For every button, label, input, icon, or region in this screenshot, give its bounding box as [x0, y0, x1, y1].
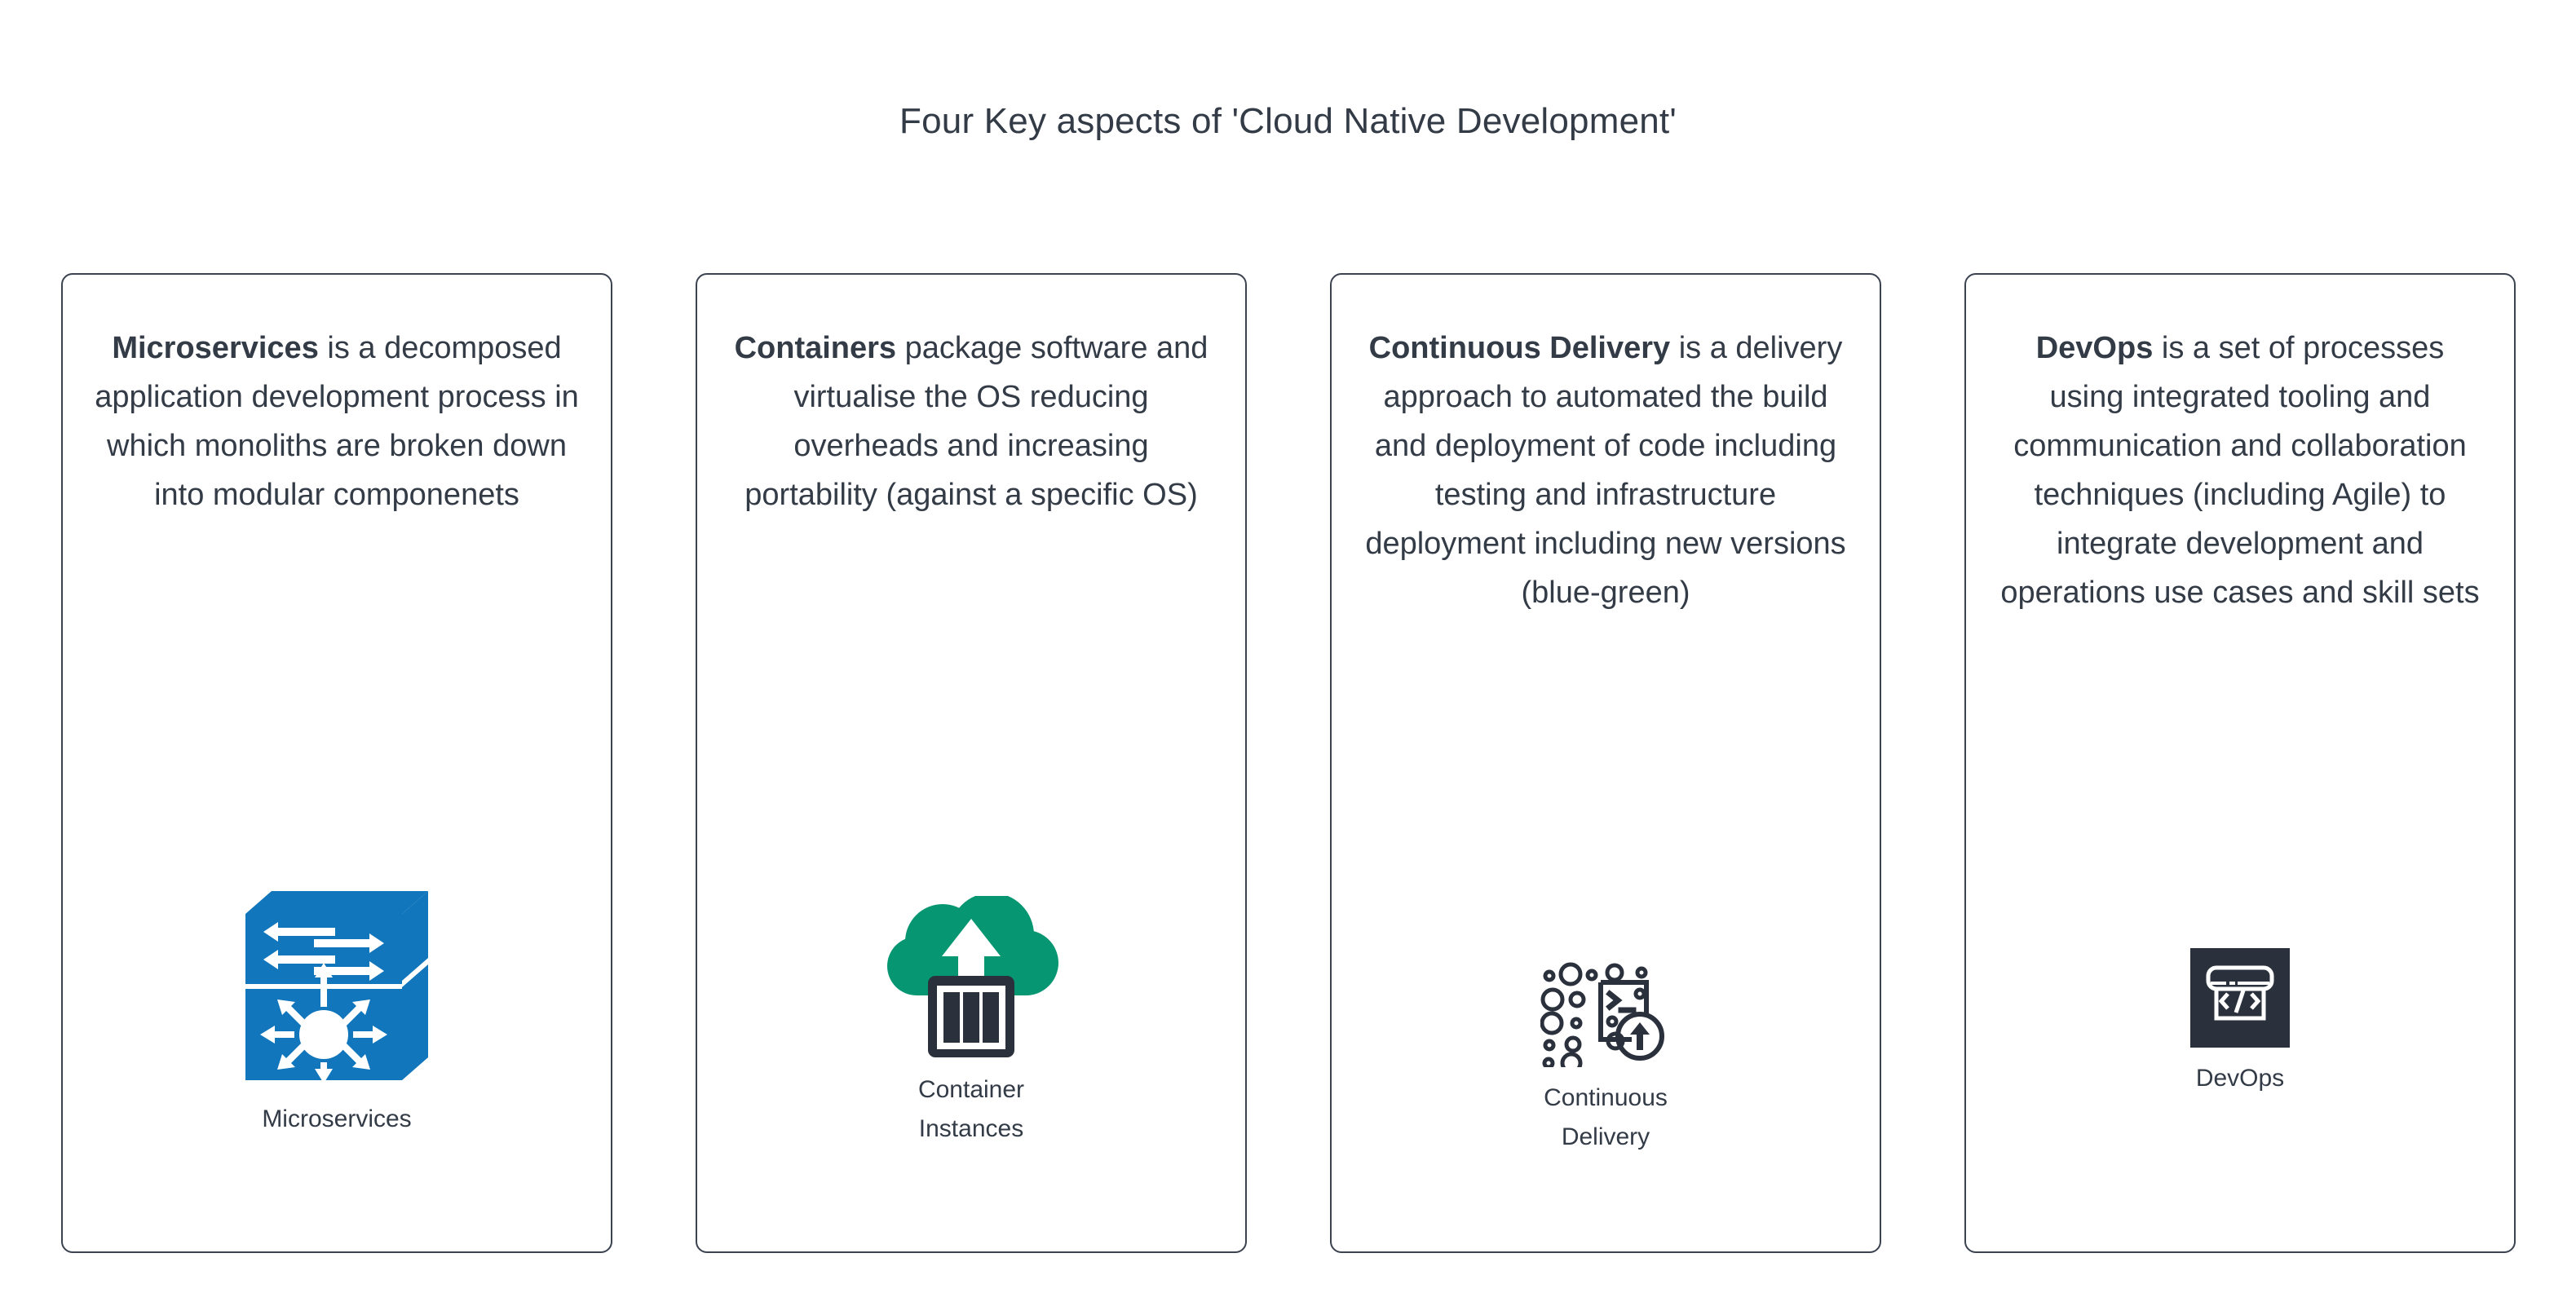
card-continuous-delivery-icon-caption: Continuous Delivery	[1544, 1079, 1668, 1157]
card-containers-icon-block: Container Instances	[697, 896, 1245, 1149]
card-microservices-text: Microservices is a decomposed applicatio…	[92, 324, 581, 519]
card-continuous-delivery[interactable]: Continuous Delivery is a delivery approa…	[1330, 273, 1881, 1253]
container-cloud-icon	[882, 896, 1060, 1059]
card-continuous-delivery-icon-block: Continuous Delivery	[1332, 953, 1880, 1157]
continuous-delivery-terminal-icon	[1540, 953, 1671, 1067]
card-devops-body: is a set of processes using integrated t…	[2000, 331, 2479, 610]
card-containers[interactable]: Containers package software and virtuali…	[696, 273, 1247, 1253]
devops-code-icon	[2190, 948, 2290, 1048]
page-title: Four Key aspects of 'Cloud Native Develo…	[0, 101, 2576, 143]
card-containers-text: Containers package software and virtuali…	[727, 324, 1216, 519]
card-continuous-delivery-body: is a delivery approach to automated the …	[1365, 331, 1845, 610]
card-microservices-lead: Microservices	[112, 331, 319, 365]
card-microservices[interactable]: Microservices is a decomposed applicatio…	[61, 273, 612, 1253]
card-devops-lead: DevOps	[2036, 331, 2154, 365]
microservices-box-icon	[239, 885, 435, 1088]
card-continuous-delivery-lead: Continuous Delivery	[1369, 331, 1671, 365]
card-continuous-delivery-text: Continuous Delivery is a delivery approa…	[1361, 324, 1850, 617]
card-devops-text: DevOps is a set of processes using integ…	[1995, 324, 2485, 617]
card-devops[interactable]: DevOps is a set of processes using integ…	[1964, 273, 2516, 1253]
card-devops-icon-block: DevOps	[1966, 948, 2514, 1098]
card-microservices-icon-block: Microservices	[63, 885, 611, 1139]
cards-row: Microservices is a decomposed applicatio…	[61, 273, 2516, 1255]
card-microservices-icon-caption: Microservices	[262, 1100, 411, 1139]
card-devops-icon-caption: DevOps	[2196, 1059, 2284, 1098]
card-containers-icon-caption: Container Instances	[918, 1070, 1024, 1149]
card-containers-lead: Containers	[735, 331, 896, 365]
